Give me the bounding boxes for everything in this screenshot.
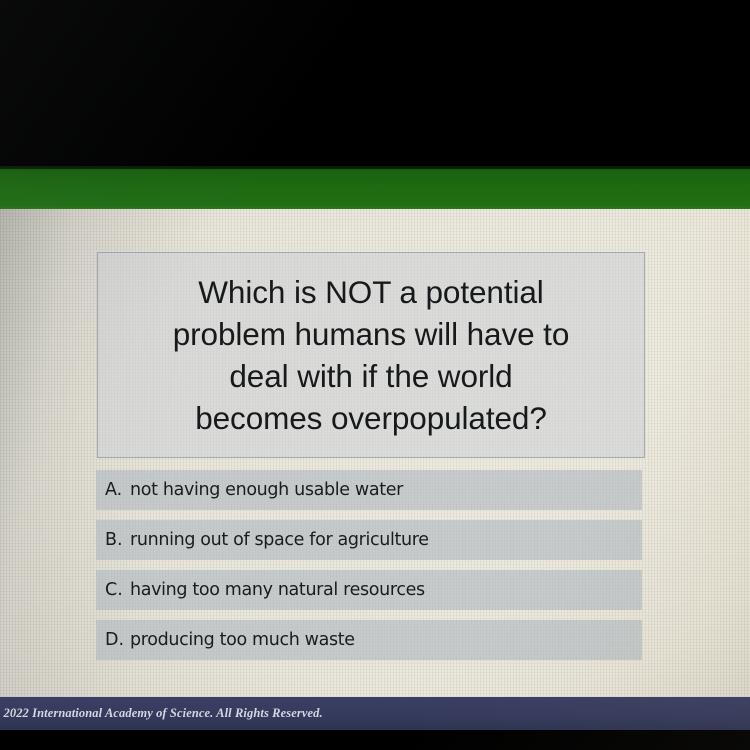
question-card: Which is NOT a potential problem humans … <box>97 252 645 458</box>
option-label-b: running out of space for agriculture <box>130 530 429 550</box>
option-letter-a: A. <box>105 480 130 500</box>
option-letter-b: B. <box>105 530 130 550</box>
option-label-d: producing too much waste <box>130 630 355 650</box>
answer-option-c[interactable]: C. having too many natural resources <box>96 570 642 610</box>
screenshot-root: Which is NOT a potential problem humans … <box>0 0 750 750</box>
letterbox-bottom <box>0 730 750 750</box>
answer-options-list: A. not having enough usable water B. run… <box>96 470 642 670</box>
question-text: Which is NOT a potential problem humans … <box>98 271 644 439</box>
footer-bar: - 2022 International Academy of Science.… <box>0 697 750 730</box>
option-letter-c: C. <box>105 580 130 600</box>
option-letter-d: D. <box>105 630 130 650</box>
letterbox-top <box>0 0 750 166</box>
option-label-c: having too many natural resources <box>130 580 425 600</box>
app-header-band <box>0 166 750 209</box>
answer-option-b[interactable]: B. running out of space for agriculture <box>96 520 642 560</box>
option-label-a: not having enough usable water <box>130 480 403 500</box>
answer-option-a[interactable]: A. not having enough usable water <box>96 470 642 510</box>
copyright-text: - 2022 International Academy of Science.… <box>0 706 323 721</box>
answer-option-d[interactable]: D. producing too much waste <box>96 620 642 660</box>
